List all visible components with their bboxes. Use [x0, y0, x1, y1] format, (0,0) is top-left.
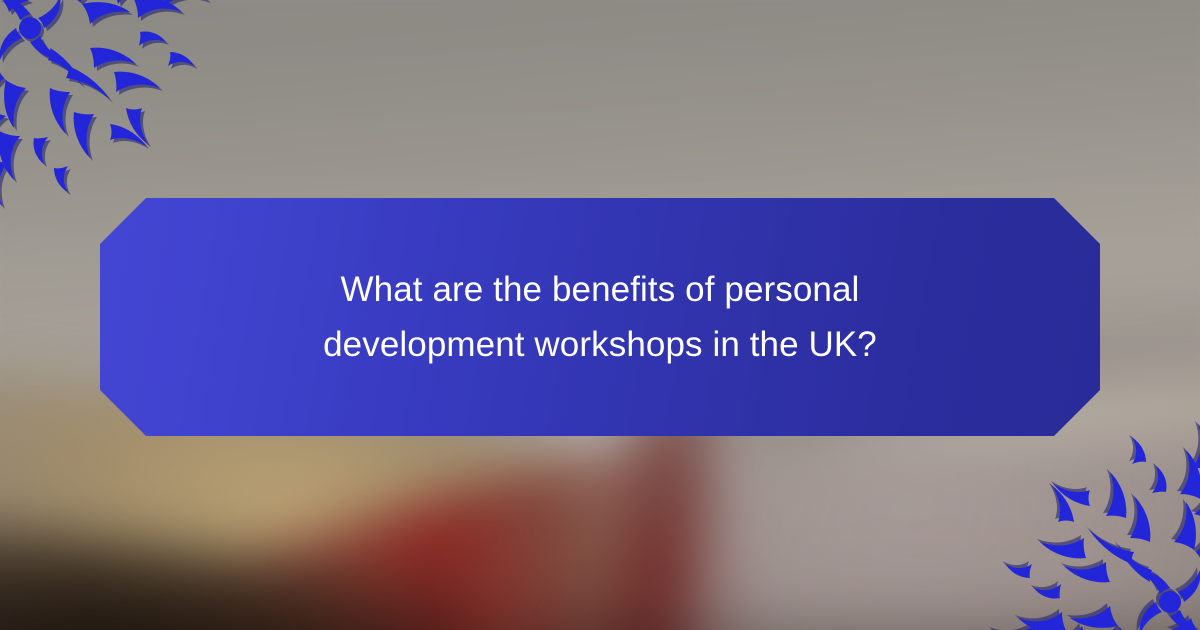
question-text: What are the benefits of personal develo…: [290, 262, 910, 372]
question-banner: What are the benefits of personal develo…: [100, 198, 1100, 436]
question-card: What are the benefits of personal develo…: [0, 0, 1200, 630]
